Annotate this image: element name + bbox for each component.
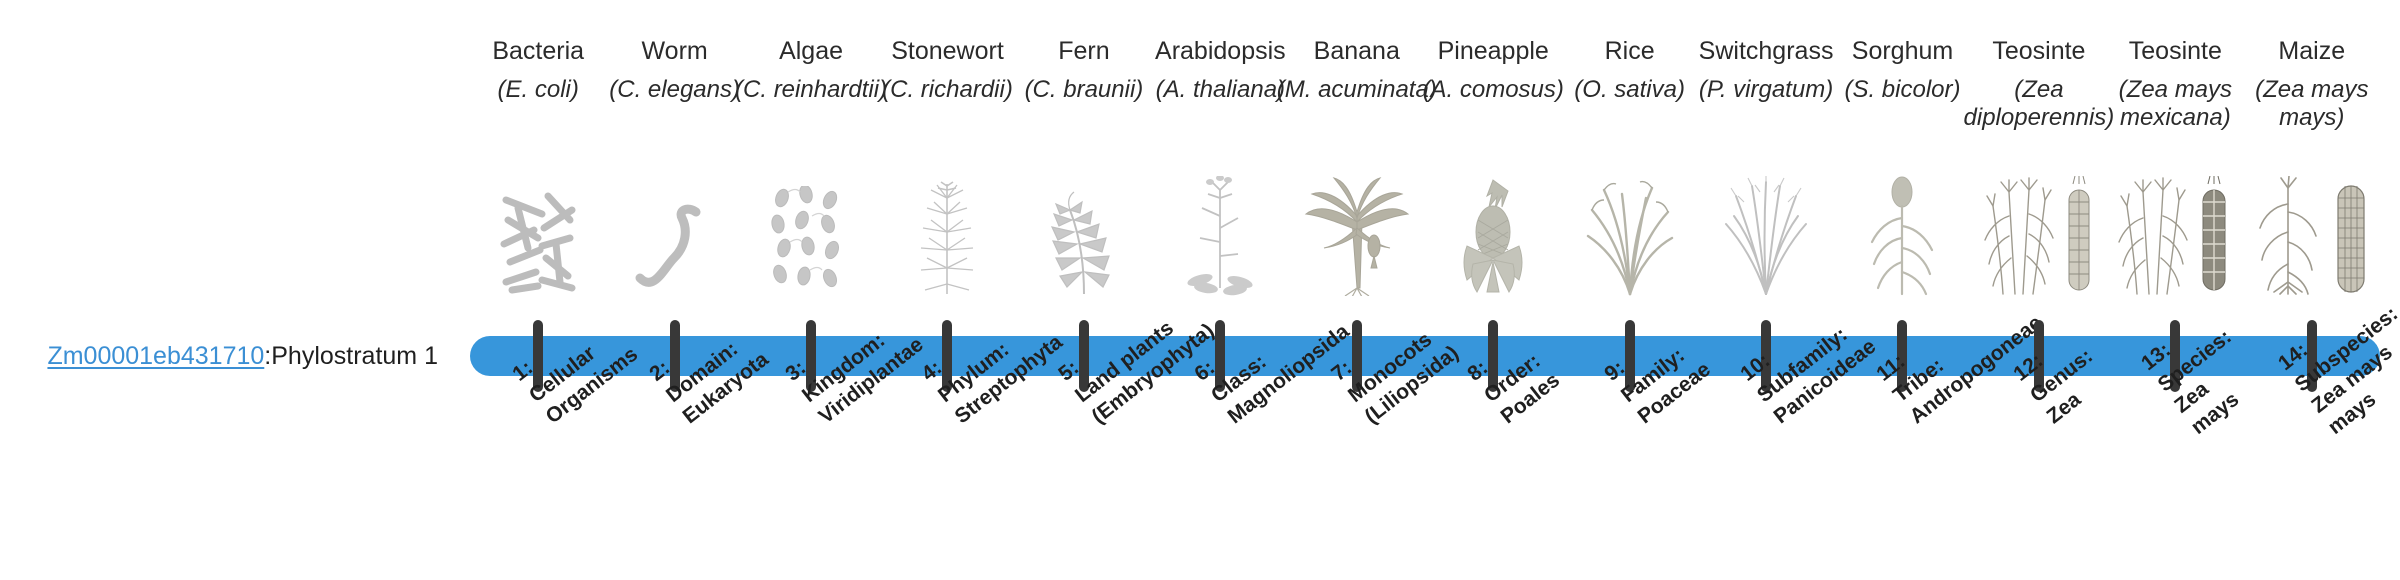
species-column: Rice(O. sativa) 9: Family: Poaceae: [1561, 0, 1697, 580]
phylostratum-label: Phylostratum 1: [271, 342, 438, 371]
species-column: Algae(C. reinhardtii) 3: Kingdom: Viridi…: [743, 0, 879, 580]
species-column: Worm(C. elegans) 2: Domain: Eukaryota: [606, 0, 742, 580]
species-column: Fern(C. braunii) 5: Land plants (Embryop…: [1016, 0, 1152, 580]
row-label-separator: :: [264, 342, 271, 371]
pineapple-icon: [1425, 168, 1561, 296]
phylostratigraphy-timeline: Bacteria(E. coli) 1: Cellular OrganismsW…: [470, 0, 2380, 580]
arabidopsis-icon: [1152, 168, 1288, 296]
species-column: Switchgrass(P. virgatum) 10: Subfamily: …: [1698, 0, 1834, 580]
species-column: Banana(M. acuminata) 7: Monocots (Liliop…: [1289, 0, 1425, 580]
species-column: Arabidopsis(A. thaliana) 6: Class: Magno…: [1152, 0, 1288, 580]
species-column: Stonewort(C. richardii) 4: Phylum: Strep…: [879, 0, 1015, 580]
gene-id-link[interactable]: Zm00001eb431710: [47, 342, 264, 371]
species-column: Teosinte(Zea diploperennis) 12: Genus: Z…: [1971, 0, 2107, 580]
bacteria-icon: [470, 168, 606, 296]
species-common-name: Maize: [2230, 36, 2394, 66]
stonewort-icon: [879, 168, 1015, 296]
algae-icon: [743, 168, 879, 296]
banana-icon: [1289, 168, 1425, 296]
switchgrass-icon: [1698, 168, 1834, 296]
species-column: Teosinte(Zea mays mexicana) 13: Species:…: [2107, 0, 2243, 580]
species-column: Maize(Zea mays mays) 14: Subspecies: Zea…: [2244, 0, 2380, 580]
maize-icon: [2244, 168, 2380, 296]
worm-icon: [606, 168, 742, 296]
species-header: Maize(Zea mays mays): [2230, 36, 2394, 132]
fern-icon: [1016, 168, 1152, 296]
sorghum-icon: [1834, 168, 1970, 296]
species-column: Pineapple(A. comosus) 8: Order: Poales: [1425, 0, 1561, 580]
species-column: Sorghum(S. bicolor) 11: Tribe: Andropogo…: [1834, 0, 1970, 580]
teosinte-diploperennis-icon: [1971, 168, 2107, 296]
rice-icon: [1561, 168, 1697, 296]
species-column: Bacteria(E. coli) 1: Cellular Organisms: [470, 0, 606, 580]
row-label: Zm00001eb431710: Phylostratum 1: [0, 336, 448, 376]
teosinte-mexicana-icon: [2107, 168, 2243, 296]
species-latin-name: (Zea mays mays): [2230, 76, 2394, 132]
